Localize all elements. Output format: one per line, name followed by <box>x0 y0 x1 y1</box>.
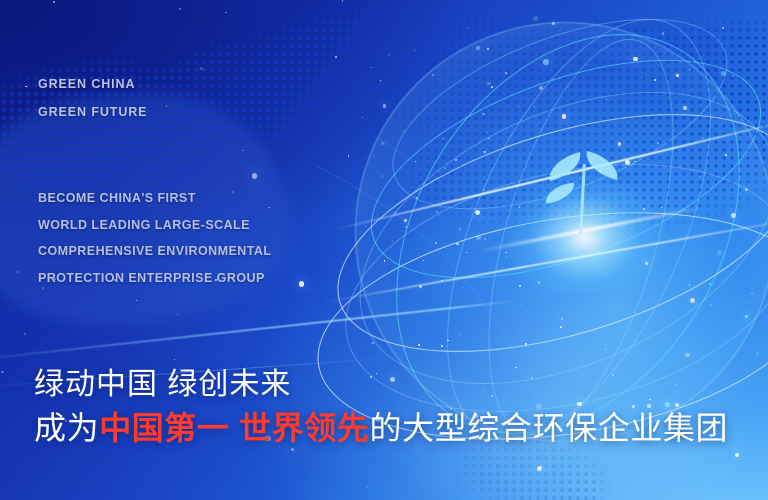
headline-gap <box>230 410 240 446</box>
eyebrow-line-2: GREEN FUTURE <box>38 98 147 126</box>
banner-canvas: GREEN CHINA GREEN FUTURE BECOME CHINA'S … <box>0 0 768 500</box>
tagline-line-2: WORLD LEADING LARGE-SCALE <box>38 212 271 239</box>
headline-prefix: 成为 <box>34 410 99 446</box>
headline-suffix: 的大型综合环保企业集团 <box>370 410 729 446</box>
sprout-seedling-icon <box>541 148 625 234</box>
headline-line-1: 绿动中国 绿创未来 <box>34 364 728 406</box>
tagline-line-4: PROTECTION ENTERPRISE GROUP <box>38 265 271 292</box>
sprout-leaf-right <box>582 151 622 180</box>
eyebrow-line-1: GREEN CHINA <box>38 70 147 98</box>
headline-highlight-a: 中国第一 <box>99 410 229 446</box>
headline-highlight-b: 世界领先 <box>239 410 369 446</box>
sprout-stem <box>579 164 586 234</box>
sprout-leaf-lower <box>544 182 576 203</box>
headline-line-2: 成为中国第一 世界领先的大型综合环保企业集团 <box>34 406 728 450</box>
tagline-line-3: COMPREHENSIVE ENVIRONMENTAL <box>38 238 271 265</box>
headline: 绿动中国 绿创未来 成为中国第一 世界领先的大型综合环保企业集团 <box>34 364 728 450</box>
sprout-leaf-left <box>545 152 585 181</box>
tagline-text: BECOME CHINA'S FIRST WORLD LEADING LARGE… <box>38 185 271 291</box>
eyebrow-text: GREEN CHINA GREEN FUTURE <box>38 70 147 126</box>
tagline-line-1: BECOME CHINA'S FIRST <box>38 185 271 212</box>
